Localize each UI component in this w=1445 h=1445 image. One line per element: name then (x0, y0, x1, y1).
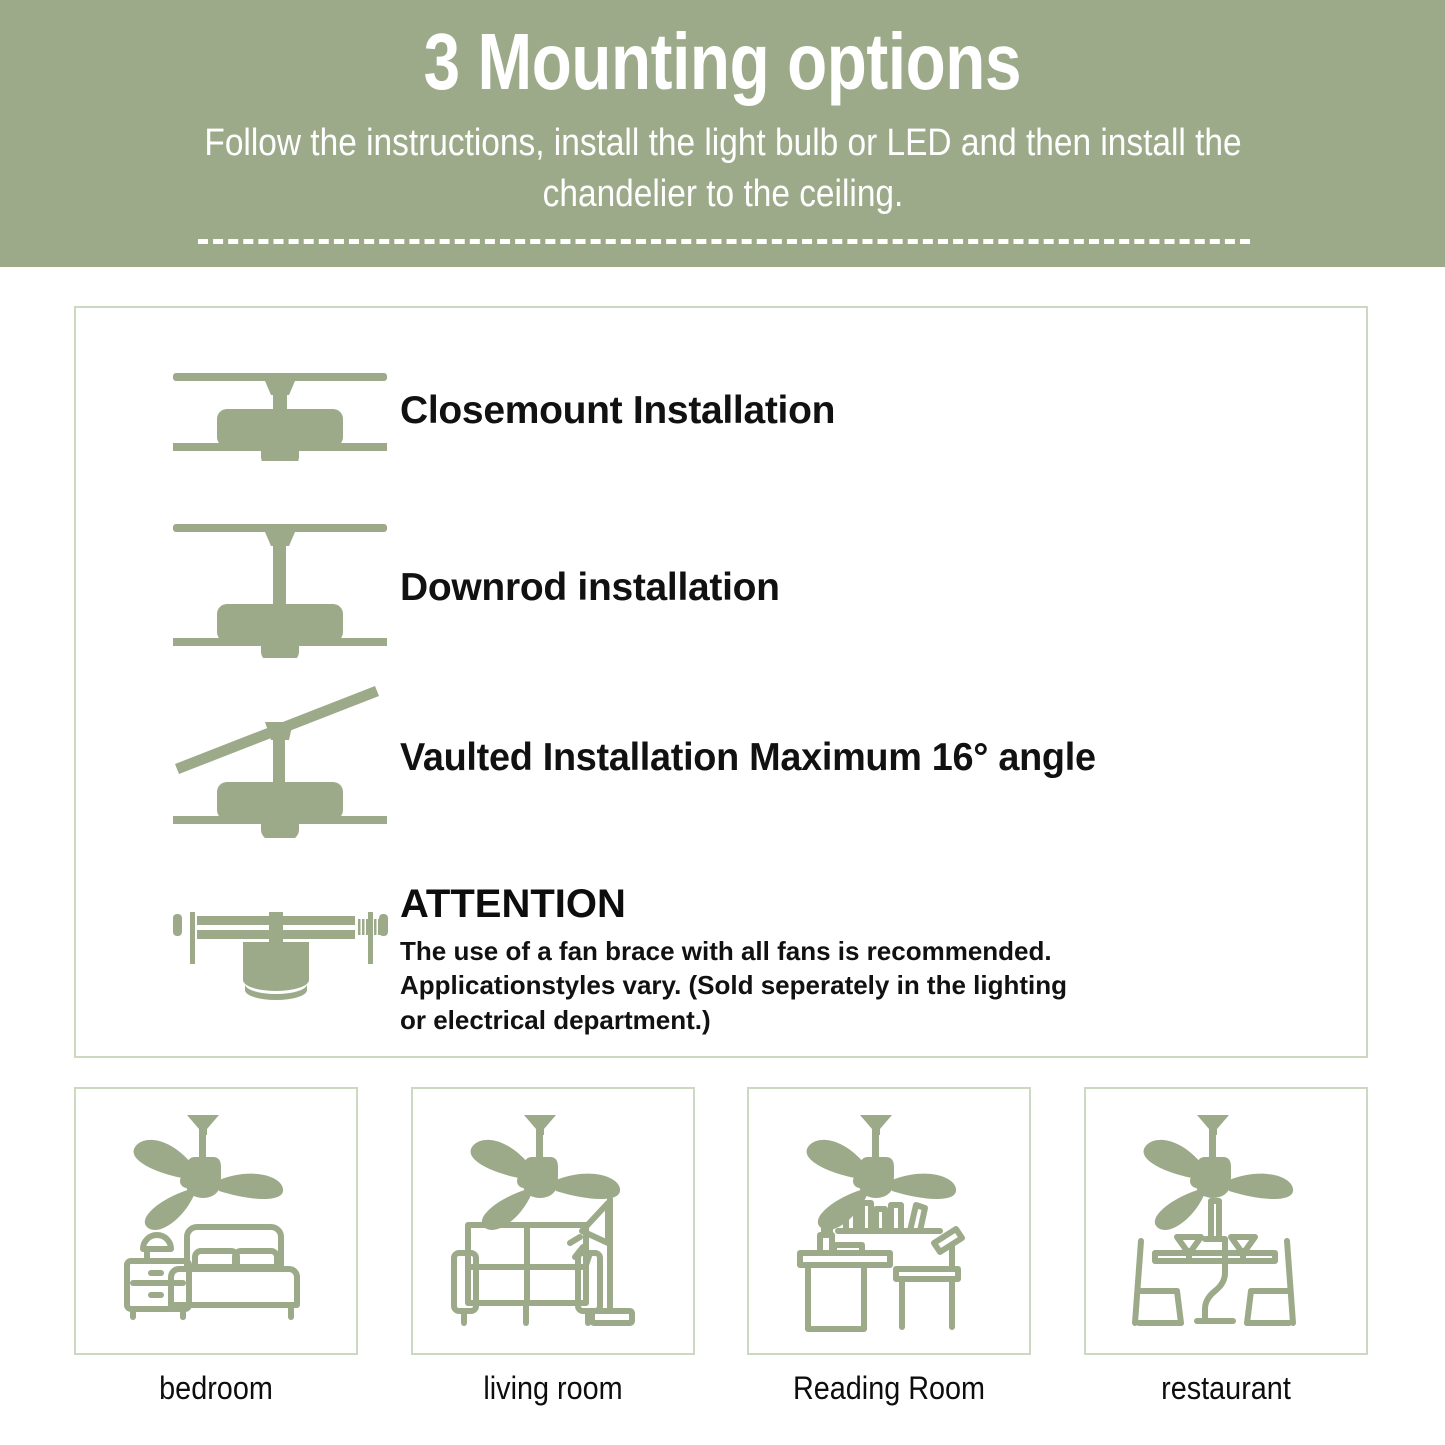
page-subtitle: Follow the instructions, install the lig… (137, 118, 1307, 219)
room-card-living-room[interactable] (411, 1087, 695, 1355)
mounting-option-row-closemount: Closemount Installation (160, 356, 1340, 466)
bedroom-icon (91, 1101, 341, 1341)
ceiling-fan-downrod-icon (160, 518, 400, 658)
mounting-option-label-vaulted: Vaulted Installation Maximum 16° angle (400, 736, 1096, 780)
mounting-option-row-vaulted: Vaulted Installation Maximum 16° angle (160, 673, 1340, 843)
attention-row: ATTENTION The use of a fan brace with al… (160, 878, 1340, 1038)
ceiling-fan-vaulted-icon (160, 678, 400, 838)
reading-room-icon (764, 1101, 1014, 1341)
attention-line-2: Applicationstyles vary. (Sold seperately… (400, 968, 1067, 1002)
ceiling-fan-closemount-icon (160, 361, 400, 461)
attention-text-block: ATTENTION The use of a fan brace with al… (400, 878, 1067, 1037)
mounting-options-panel: Closemount Installation Downrod i (74, 306, 1368, 1058)
living-room-icon (428, 1101, 678, 1341)
infographic-page: 3 Mounting options Follow the instructio… (0, 0, 1445, 1445)
attention-title: ATTENTION (400, 884, 1067, 924)
room-label-bedroom: bedroom (88, 1370, 344, 1407)
attention-line-3: or electrical department.) (400, 1003, 1067, 1037)
mounting-option-row-downrod: Downrod installation (160, 513, 1340, 663)
room-label-reading-room: Reading Room (762, 1370, 1018, 1407)
room-cards (74, 1087, 1368, 1357)
room-card-labels: bedroom living room Reading Room restaur… (74, 1370, 1368, 1407)
room-label-restaurant: restaurant (1098, 1370, 1354, 1407)
room-label-living-room: living room (425, 1370, 681, 1407)
mounting-option-label-downrod: Downrod installation (400, 566, 780, 610)
room-card-restaurant[interactable] (1084, 1087, 1368, 1355)
header-banner: 3 Mounting options Follow the instructio… (0, 0, 1445, 267)
mounting-option-label-closemount: Closemount Installation (400, 389, 835, 433)
room-card-reading-room[interactable] (747, 1087, 1031, 1355)
header-dashed-divider (198, 239, 1250, 244)
attention-line-1: The use of a fan brace with all fans is … (400, 934, 1067, 968)
room-card-bedroom[interactable] (74, 1087, 358, 1355)
restaurant-icon (1101, 1101, 1351, 1341)
fan-brace-icon (160, 878, 400, 1008)
page-title: 3 Mounting options (424, 22, 1021, 102)
